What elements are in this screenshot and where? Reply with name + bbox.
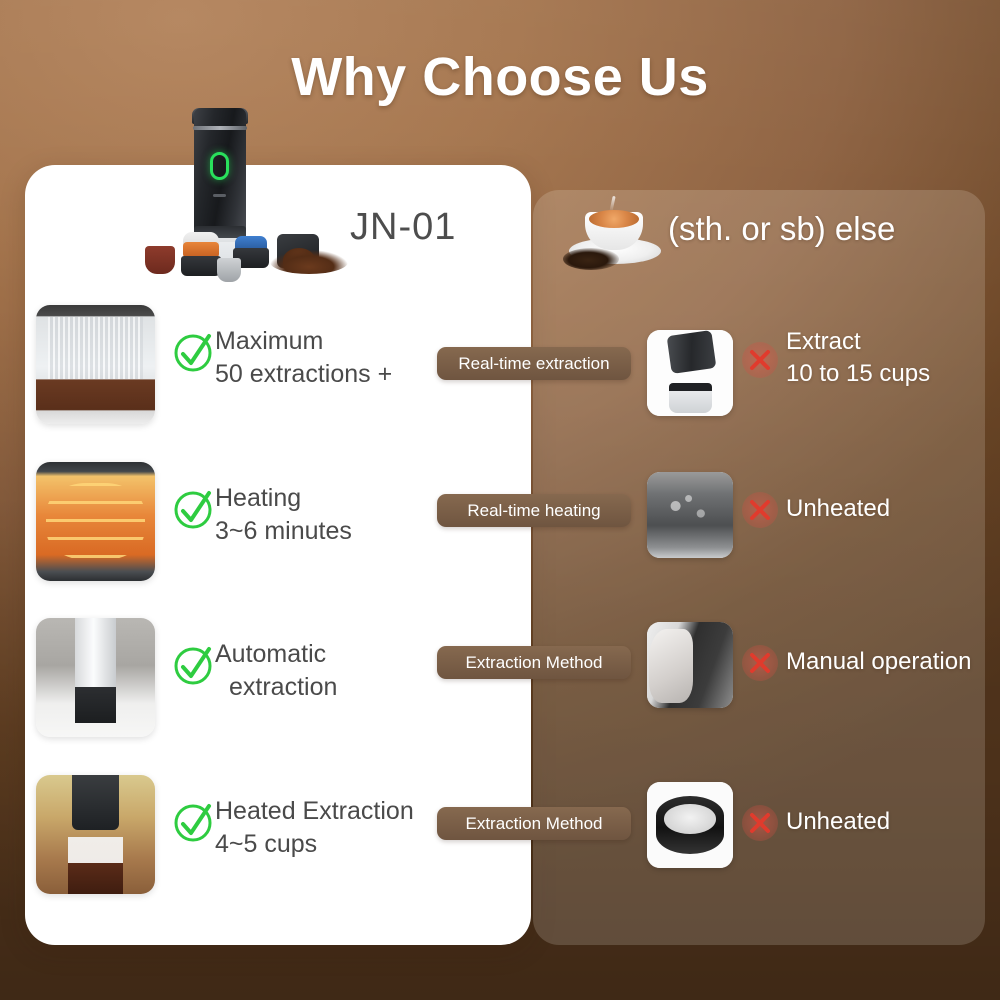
power-led-indicator [210, 152, 229, 180]
feature-badge: Extraction Method [437, 646, 631, 679]
ours-thumbnail-automatic [36, 618, 155, 737]
coffee-beans-image [563, 248, 619, 270]
page-title: Why Choose Us [0, 46, 1000, 108]
ours-text-line2: 4~5 cups [215, 828, 414, 861]
feature-badge: Real-time heating [437, 494, 631, 527]
product-model-label: JN-01 [350, 206, 456, 249]
feature-badge: Extraction Method [437, 807, 631, 840]
check-icon [173, 803, 213, 843]
competitor-text-line2: 10 to 15 cups [786, 358, 930, 390]
ours-text-line2: extraction [215, 671, 337, 704]
competitor-panel-header: (sth. or sb) else [548, 196, 978, 274]
check-icon [173, 646, 213, 686]
ours-thumbnail-extraction [36, 305, 155, 424]
feature-badge: Real-time extraction [437, 347, 631, 380]
ours-text-line1: Heating [215, 482, 352, 515]
competitor-text-line1: Manual operation [786, 646, 971, 678]
cross-icon [742, 342, 778, 378]
ours-text-line2: 50 extractions + [215, 358, 392, 391]
competitor-thumbnail-extraction [647, 330, 733, 416]
ours-text-line2: 3~6 minutes [215, 515, 352, 548]
ours-text-line1: Maximum [215, 325, 392, 358]
cross-icon [742, 492, 778, 528]
ours-text-line1: Heated Extraction [215, 795, 414, 828]
coffee-grounds-image [270, 250, 348, 274]
competitor-thumbnail-unheated [647, 472, 733, 558]
competitor-text-line1: Unheated [786, 493, 890, 525]
cross-icon [742, 805, 778, 841]
cross-icon [742, 645, 778, 681]
ours-panel-header [25, 100, 531, 285]
competitor-text-line1: Unheated [786, 806, 890, 838]
competitor-thumbnail-manual [647, 622, 733, 708]
check-icon [173, 333, 213, 373]
ours-text-line1: Automatic [215, 638, 337, 671]
competitor-thumbnail-filter [647, 782, 733, 868]
competitor-header-label: (sth. or sb) else [668, 210, 895, 248]
coffee-cup-image [563, 198, 671, 270]
competitor-text-line1: Extract [786, 326, 930, 358]
ours-thumbnail-heating [36, 462, 155, 581]
ours-thumbnail-heated-extraction [36, 775, 155, 894]
check-icon [173, 490, 213, 530]
